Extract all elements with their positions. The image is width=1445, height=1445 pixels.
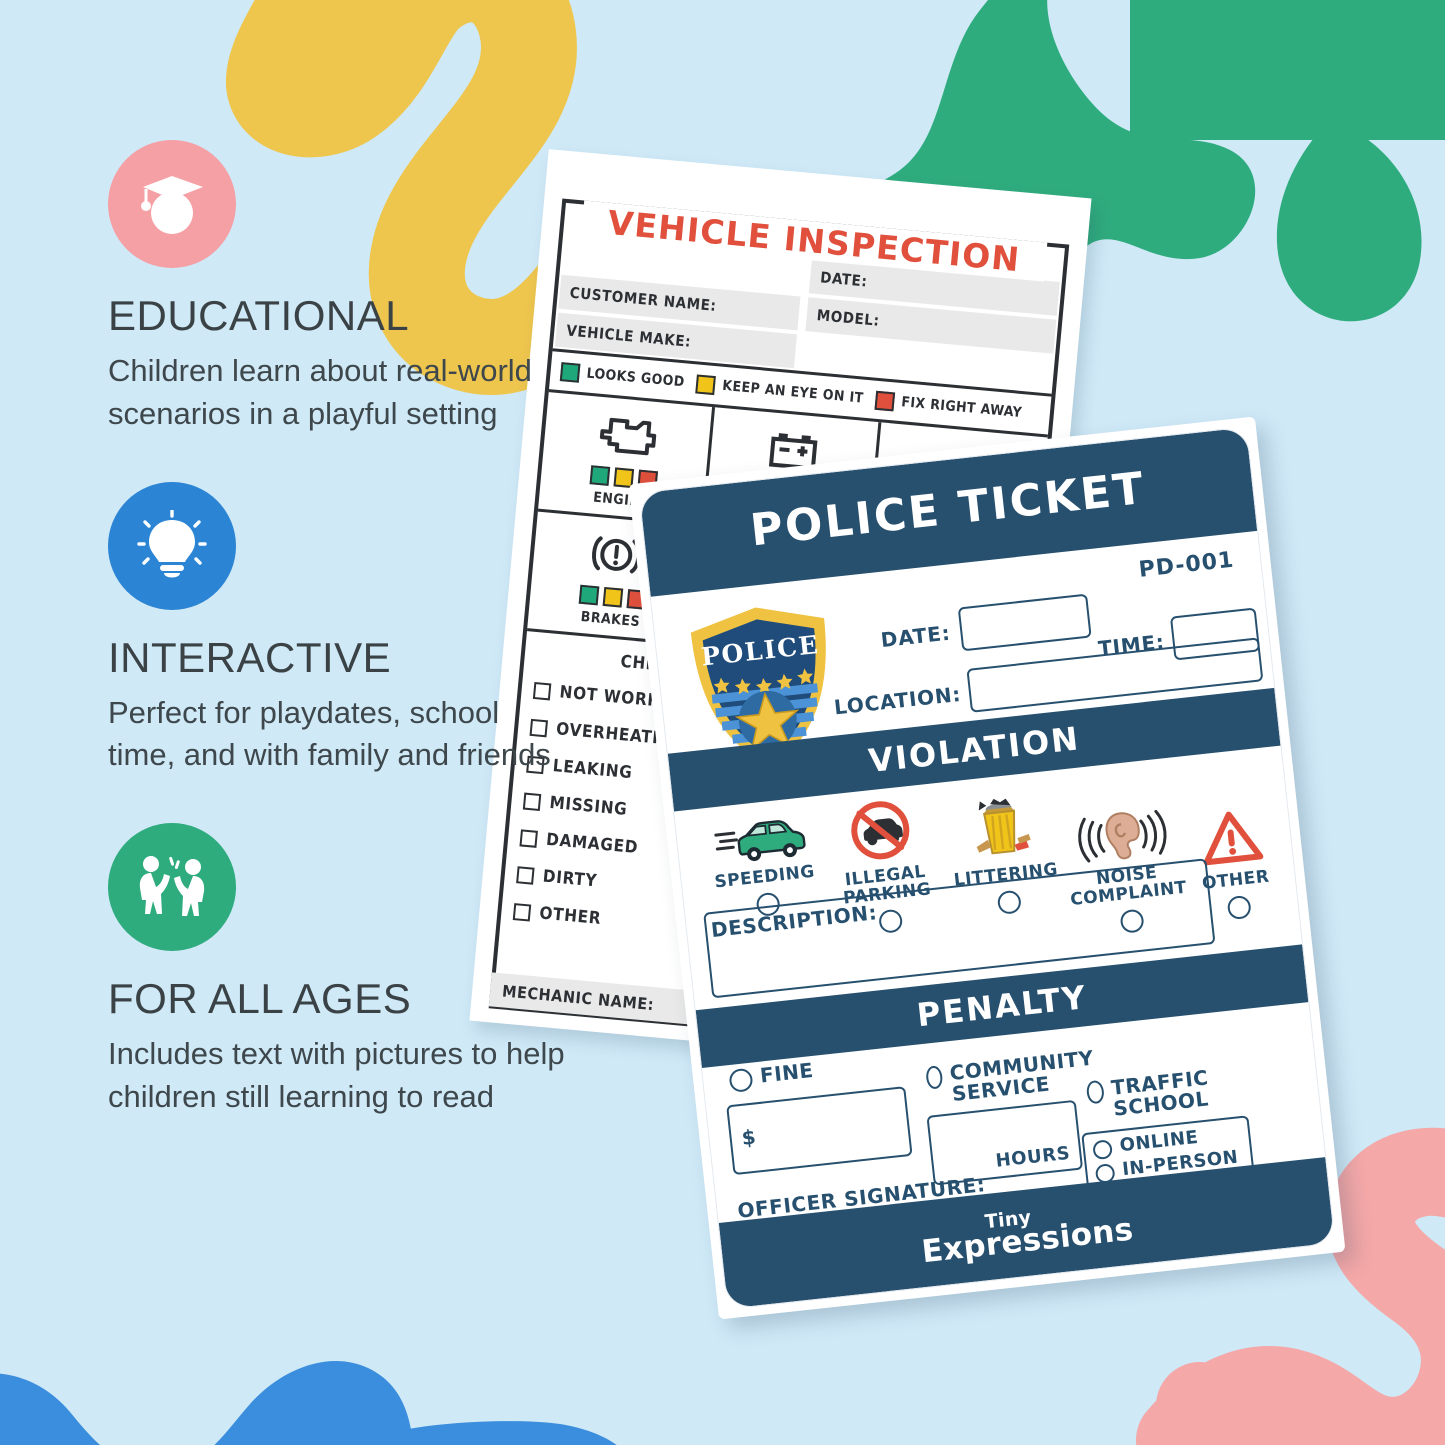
vi-legend-label: KEEP AN EYE ON IT (722, 378, 865, 407)
penalty-label: FINE (759, 1060, 814, 1086)
vi-legend-label: LOOKS GOOD (586, 365, 685, 390)
vi-legend-fix-right-away: FIX RIGHT AWAY (875, 390, 1023, 422)
pt-label-date: DATE: (858, 621, 952, 655)
trash-can-icon (964, 795, 1038, 864)
penalty-label: COMMUNITY SERVICE (949, 1046, 1109, 1104)
feature-educational: EDUCATIONAL Children learn about real-wo… (108, 140, 578, 436)
feature-list: EDUCATIONAL Children learn about real-wo… (108, 140, 578, 1119)
feature-title: FOR ALL AGES (108, 977, 578, 1021)
feature-body: Children learn about real-world scenario… (108, 350, 568, 436)
vi-legend-label: FIX RIGHT AWAY (901, 394, 1023, 421)
penalty-radio-online[interactable] (1092, 1139, 1113, 1160)
feature-title: INTERACTIVE (108, 636, 578, 680)
blue-blob-shape (0, 1361, 414, 1445)
graduation-cap-icon (135, 169, 209, 239)
vi-field-model-label: MODEL: (816, 306, 880, 330)
speeding-car-icon (711, 796, 809, 868)
rating-green[interactable] (578, 585, 599, 606)
feature-for-all-ages: FOR ALL AGES Includes text with pictures… (108, 823, 578, 1119)
vi-field-make-label: VEHICLE MAKE: (566, 321, 692, 350)
swatch-red (875, 390, 896, 411)
pt-label-location: LOCATION: (832, 682, 962, 720)
vi-field-customer-name-label: CUSTOMER NAME: (569, 284, 717, 315)
penalty-radio-fine[interactable] (728, 1068, 753, 1093)
violation-label: OTHER (1201, 868, 1270, 893)
vi-item-label: BRAKES (580, 609, 641, 630)
rating-yellow[interactable] (602, 587, 623, 608)
children-playing-icon-circle (108, 823, 236, 951)
penalty-label: TRAFFIC SCHOOL (1110, 1063, 1249, 1119)
no-parking-icon (846, 796, 914, 864)
warning-triangle-icon (1197, 800, 1265, 868)
green-right-lobe (1277, 120, 1422, 321)
feature-interactive: INTERACTIVE Perfect for playdates, schoo… (108, 482, 578, 778)
penalty-section-label: PENALTY (915, 978, 1089, 1034)
vi-rating-dots[interactable] (578, 585, 646, 610)
vi-field-date-label: DATE: (819, 268, 868, 290)
ear-noise-icon (1073, 794, 1171, 866)
vi-legend-looks-good: LOOKS GOOD (560, 362, 686, 392)
rating-green[interactable] (589, 465, 610, 486)
police-ticket-card: POLICE TICKET PD-001 POLICE D (638, 426, 1335, 1309)
feature-title: EDUCATIONAL (108, 294, 578, 338)
feature-body: Perfect for playdates, school time, and … (108, 692, 568, 778)
children-playing-icon (132, 854, 212, 920)
penalty-option-community-service[interactable]: COMMUNITY SERVICE (925, 1046, 1108, 1107)
green-top-right-fill (1130, 0, 1445, 140)
engine-icon (594, 407, 660, 464)
penalty-radio-traffic-school[interactable] (1086, 1080, 1105, 1105)
pt-fine-currency-prefix: $ (740, 1125, 757, 1150)
violation-radio-other[interactable] (1226, 895, 1251, 920)
violation-section-label: VIOLATION (867, 719, 1082, 780)
graduation-cap-icon-circle (108, 140, 236, 268)
police-ticket-sheet: POLICE TICKET PD-001 POLICE D (628, 416, 1345, 1319)
lightbulb-icon-circle (108, 482, 236, 610)
violation-label: SPEEDING (714, 863, 816, 892)
vi-legend-keep-an-eye: KEEP AN EYE ON IT (696, 374, 865, 408)
lightbulb-icon (137, 510, 207, 582)
penalty-radio-community-service[interactable] (925, 1065, 943, 1090)
penalty-option-traffic-school[interactable]: TRAFFIC SCHOOL (1086, 1063, 1250, 1122)
pt-input-date[interactable] (958, 594, 1092, 652)
police-ticket-code: PD-001 (1138, 548, 1236, 583)
tiny-expressions-logo: Tiny Expressions (919, 1199, 1135, 1268)
swatch-yellow (696, 374, 717, 395)
blue-blob-lobe (392, 1421, 644, 1445)
penalty-option-fine[interactable]: FINE (728, 1060, 815, 1093)
feature-body: Includes text with pictures to help chil… (108, 1033, 568, 1119)
